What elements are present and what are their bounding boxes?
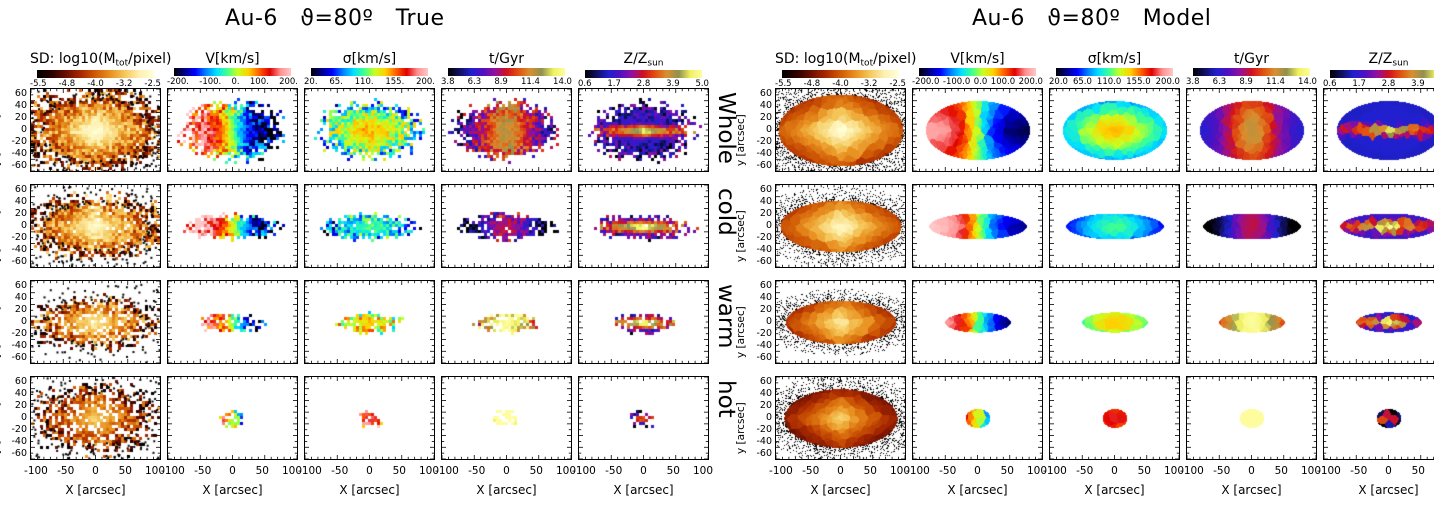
map-panel-true-warm-metal[interactable] <box>578 280 709 364</box>
y-axis-tick-label: -60 <box>749 448 772 459</box>
map-panel-model-cold-v[interactable] <box>912 184 1043 268</box>
y-axis-tick-label: 40 <box>4 100 27 111</box>
y-axis-tick-label: 40 <box>749 388 772 399</box>
y-axis-tick-label: 40 <box>749 100 772 111</box>
colorbar-header-age-model: t/Gyr3.86.38.911.414.0 <box>1186 52 1317 87</box>
colorbar-header-sigma-true: σ[km/s]20.65.110.155.200. <box>304 52 435 87</box>
y-axis-tick-label: -60 <box>749 256 772 267</box>
colorbar-tick: -100. <box>199 77 221 87</box>
colorbar-tick: -100.0 <box>943 77 970 87</box>
y-axis-tick-label: 40 <box>4 196 27 207</box>
panel-tickmarks <box>1324 281 1434 363</box>
panel-tickmarks <box>579 281 708 363</box>
colorbar-tick: 20.0 <box>1049 77 1068 87</box>
panel-tickmarks <box>579 89 708 171</box>
colorbar-tick: 8.9 <box>494 77 508 87</box>
colorbar-header-age-true: t/Gyr3.86.38.911.414.0 <box>441 52 572 87</box>
panel-tickmarks <box>1324 89 1434 171</box>
colorbar-tick: 110. <box>355 77 374 87</box>
y-axis-tick-label: 40 <box>749 196 772 207</box>
panel-tickmarks <box>1050 377 1179 459</box>
map-panel-model-whole-sd[interactable] <box>775 88 906 172</box>
panel-tickmarks <box>776 185 905 267</box>
colorbar-label-sigma-true: σ[km/s] <box>304 52 435 67</box>
panel-tickmarks <box>442 377 571 459</box>
map-panel-model-hot-age[interactable] <box>1186 376 1317 460</box>
colorbar-label-sd-model: SD: log10(Mtot/pixel) <box>775 52 906 69</box>
colorbar-tick: 200. <box>416 77 435 87</box>
y-axis-tick-label: -20 <box>4 424 27 435</box>
panel-tickmarks <box>305 281 434 363</box>
y-axis-title: y [arcsec] <box>735 210 747 262</box>
y-axis-tick-label: -40 <box>4 244 27 255</box>
panel-tickmarks <box>168 89 297 171</box>
colorbar-gradient-metal-model <box>1330 70 1434 78</box>
map-panel-true-whole-sigma[interactable] <box>304 88 435 172</box>
colorbar-gradient-age-model <box>1193 68 1310 76</box>
map-panel-model-whole-sigma[interactable] <box>1049 88 1180 172</box>
y-axis-tick-label: 60 <box>4 88 27 99</box>
map-panel-true-cold-metal[interactable] <box>578 184 709 268</box>
colorbar-label-sigma-model: σ[km/s] <box>1049 52 1180 67</box>
map-panel-model-cold-sigma[interactable] <box>1049 184 1180 268</box>
panel-tickmarks <box>1187 89 1316 171</box>
colorbar-tick: 20. <box>304 77 318 87</box>
map-panel-true-hot-metal[interactable] <box>578 376 709 460</box>
x-axis-title: X [arcsec] <box>912 483 1043 497</box>
y-axis-tick-label: 20 <box>749 400 772 411</box>
colorbar-gradient-sd-model <box>782 70 899 78</box>
colorbar-ticks-age-model: 3.86.38.911.414.0 <box>1186 77 1317 87</box>
colorbar-tick: 200.0 <box>1019 77 1043 87</box>
panel-tickmarks <box>776 89 905 171</box>
y-axis-tick-label: 60 <box>4 280 27 291</box>
colorbar-gradient-age-true <box>448 68 565 76</box>
map-panel-true-warm-age[interactable] <box>441 280 572 364</box>
x-axis-title: X [arcsec] <box>775 483 906 497</box>
map-panel-model-warm-age[interactable] <box>1186 280 1317 364</box>
colorbar-tick: 200.0 <box>1156 77 1180 87</box>
map-panel-true-hot-v[interactable] <box>167 376 298 460</box>
x-axis-title: X [arcsec] <box>1323 483 1434 497</box>
colorbar-tick: 100. <box>250 77 269 87</box>
colorbar-tick: 6.3 <box>1213 77 1227 87</box>
y-axis-tick-label: 20 <box>4 208 27 219</box>
colorbar-label-age-true: t/Gyr <box>441 52 572 67</box>
colorbar-tick: 14.0 <box>1298 77 1317 87</box>
map-panel-model-cold-age[interactable] <box>1186 184 1317 268</box>
map-panel-true-cold-sd[interactable] <box>30 184 161 268</box>
y-axis-tick-label: 60 <box>4 376 27 387</box>
figure-title-true: Au-6 ϑ=80º True <box>225 6 445 31</box>
colorbar-tick: -200. <box>167 77 189 87</box>
map-panel-model-hot-sigma[interactable] <box>1049 376 1180 460</box>
map-panel-true-whole-v[interactable] <box>167 88 298 172</box>
panel-tickmarks <box>305 377 434 459</box>
panel-tickmarks <box>913 377 1042 459</box>
panel-tickmarks <box>913 281 1042 363</box>
map-panel-model-whole-metal[interactable] <box>1323 88 1434 172</box>
map-panel-true-cold-sigma[interactable] <box>304 184 435 268</box>
y-axis-tick-label: 0 <box>749 412 772 423</box>
panel-tickmarks <box>168 185 297 267</box>
figure-title-model: Au-6 ϑ=80º Model <box>972 6 1211 31</box>
colorbar-tick: 110.0 <box>1097 77 1121 87</box>
colorbar-ticks-age-true: 3.86.38.911.414.0 <box>441 77 572 87</box>
colorbar-gradient-sd-true <box>37 70 154 78</box>
colorbar-tick: -200.0 <box>912 77 939 87</box>
y-axis-tick-label: 60 <box>749 376 772 387</box>
x-axis-title: X [arcsec] <box>1186 483 1317 497</box>
y-axis-tick-label: 20 <box>749 304 772 315</box>
map-panel-model-hot-v[interactable] <box>912 376 1043 460</box>
map-panel-true-cold-age[interactable] <box>441 184 572 268</box>
y-axis-tick-label: -20 <box>4 232 27 243</box>
map-panel-model-warm-sigma[interactable] <box>1049 280 1180 364</box>
y-axis-tick-label: 0 <box>4 220 27 231</box>
y-axis-tick-label: -40 <box>749 148 772 159</box>
map-panel-model-warm-sd[interactable] <box>775 280 906 364</box>
map-panel-true-whole-metal[interactable] <box>578 88 709 172</box>
colorbar-gradient-v-model <box>919 68 1036 76</box>
colorbar-tick: 155.0 <box>1126 77 1150 87</box>
colorbar-ticks-sigma-true: 20.65.110.155.200. <box>304 77 435 87</box>
y-axis-tick-label: 20 <box>749 208 772 219</box>
y-axis-tick-label: -20 <box>749 232 772 243</box>
x-axis-title: X [arcsec] <box>167 483 298 497</box>
y-axis-title: y [arcsec] <box>0 402 2 454</box>
y-axis-tick-label: -40 <box>749 436 772 447</box>
panel-tickmarks <box>1324 377 1434 459</box>
y-axis-tick-label: -60 <box>4 256 27 267</box>
panel-tickmarks <box>579 377 708 459</box>
panel-tickmarks <box>31 89 160 171</box>
panel-tickmarks <box>168 281 297 363</box>
panel-tickmarks <box>1187 185 1316 267</box>
panel-tickmarks <box>442 281 571 363</box>
y-axis-tick-label: 0 <box>4 316 27 327</box>
y-axis-tick-label: 0 <box>749 220 772 231</box>
colorbar-gradient-sigma-true <box>311 68 428 76</box>
colorbar-tick: 11.4 <box>521 77 540 87</box>
y-axis-tick-label: 40 <box>4 388 27 399</box>
x-axis-tick-label: 50 <box>1401 465 1434 477</box>
panel-tickmarks <box>1324 185 1434 267</box>
map-panel-true-hot-age[interactable] <box>441 376 572 460</box>
colorbar-tick: 65. <box>329 77 343 87</box>
map-panel-true-whole-sd[interactable] <box>30 88 161 172</box>
panel-tickmarks <box>31 377 160 459</box>
panel-tickmarks <box>31 185 160 267</box>
y-axis-tick-label: 0 <box>749 316 772 327</box>
y-axis-tick-label: 40 <box>749 292 772 303</box>
panel-tickmarks <box>442 185 571 267</box>
panel-tickmarks <box>442 89 571 171</box>
y-axis-tick-label: -40 <box>749 340 772 351</box>
y-axis-tick-label: -40 <box>4 340 27 351</box>
y-axis-tick-label: 0 <box>4 412 27 423</box>
y-axis-tick-label: 20 <box>4 304 27 315</box>
y-axis-tick-label: -40 <box>4 148 27 159</box>
colorbar-tick: 6.3 <box>468 77 482 87</box>
colorbar-label-v-model: V[km/s] <box>912 52 1043 67</box>
colorbar-header-sd-true: SD: log10(Mtot/pixel)-5.5-4.8-4.0-3.2-2.… <box>30 52 161 89</box>
colorbar-label-metal-true: Z/Zsun <box>578 52 709 69</box>
colorbar-header-v-true: V[km/s]-200.-100.0.100.200. <box>167 52 298 87</box>
map-panel-true-hot-sd[interactable] <box>30 376 161 460</box>
y-axis-title: y [arcsec] <box>0 114 2 166</box>
map-panel-model-hot-metal[interactable] <box>1323 376 1434 460</box>
colorbar-tick: 0. <box>232 77 240 87</box>
colorbar-label-age-model: t/Gyr <box>1186 52 1317 67</box>
x-axis-title: X [arcsec] <box>30 483 161 497</box>
y-axis-tick-label: -20 <box>749 424 772 435</box>
y-axis-title: y [arcsec] <box>735 402 747 454</box>
y-axis-title: y [arcsec] <box>0 306 2 358</box>
map-panel-model-warm-metal[interactable] <box>1323 280 1434 364</box>
colorbar-tick: 0.0 <box>974 77 988 87</box>
panel-tickmarks <box>31 281 160 363</box>
y-axis-tick-label: 20 <box>4 112 27 123</box>
panel-tickmarks <box>1050 281 1179 363</box>
map-panel-model-hot-sd[interactable] <box>775 376 906 460</box>
colorbar-tick: 3.8 <box>1186 77 1200 87</box>
x-axis-title: X [arcsec] <box>304 483 435 497</box>
y-axis-tick-label: -40 <box>4 436 27 447</box>
panel-tickmarks <box>305 89 434 171</box>
colorbar-gradient-sigma-model <box>1056 68 1173 76</box>
map-panel-true-hot-sigma[interactable] <box>304 376 435 460</box>
colorbar-gradient-v-true <box>174 68 291 76</box>
colorbar-label-metal-model: Z/Zsun <box>1323 52 1434 69</box>
colorbar-tick: 200. <box>279 77 298 87</box>
panel-tickmarks <box>1187 377 1316 459</box>
y-axis-tick-label: -60 <box>4 160 27 171</box>
colorbar-tick: 8.9 <box>1239 77 1253 87</box>
map-panel-model-cold-metal[interactable] <box>1323 184 1434 268</box>
map-panel-model-whole-v[interactable] <box>912 88 1043 172</box>
colorbar-ticks-v-model: -200.0-100.00.0100.0200.0 <box>912 77 1043 87</box>
y-axis-tick-label: -40 <box>749 244 772 255</box>
panel-tickmarks <box>579 185 708 267</box>
colorbar-tick: 3.8 <box>441 77 455 87</box>
x-axis-title: X [arcsec] <box>441 483 572 497</box>
colorbar-ticks-sigma-model: 20.065.0110.0155.0200.0 <box>1049 77 1180 87</box>
panel-tickmarks <box>305 185 434 267</box>
y-axis-tick-label: 60 <box>749 280 772 291</box>
y-axis-tick-label: -20 <box>749 328 772 339</box>
y-axis-tick-label: -20 <box>4 328 27 339</box>
x-axis-title: X [arcsec] <box>1049 483 1180 497</box>
panel-tickmarks <box>168 377 297 459</box>
x-axis-title: X [arcsec] <box>578 483 709 497</box>
y-axis-tick-label: 20 <box>749 112 772 123</box>
y-axis-tick-label: 60 <box>749 88 772 99</box>
panel-tickmarks <box>913 185 1042 267</box>
colorbar-label-v-true: V[km/s] <box>167 52 298 67</box>
x-axis-tick-label: 100 <box>686 465 720 477</box>
figure-root: Au-6 ϑ=80º True Au-6 ϑ=80º Model SD: log… <box>0 0 1434 511</box>
y-axis-tick-label: -60 <box>4 352 27 363</box>
panel-tickmarks <box>1050 89 1179 171</box>
map-panel-true-warm-v[interactable] <box>167 280 298 364</box>
map-panel-true-warm-sd[interactable] <box>30 280 161 364</box>
colorbar-header-sigma-model: σ[km/s]20.065.0110.0155.0200.0 <box>1049 52 1180 87</box>
map-panel-true-cold-v[interactable] <box>167 184 298 268</box>
y-axis-title: y [arcsec] <box>735 306 747 358</box>
y-axis-tick-label: -20 <box>749 136 772 147</box>
map-panel-model-cold-sd[interactable] <box>775 184 906 268</box>
map-panel-true-warm-sigma[interactable] <box>304 280 435 364</box>
map-panel-model-whole-age[interactable] <box>1186 88 1317 172</box>
panel-tickmarks <box>776 377 905 459</box>
y-axis-tick-label: 0 <box>4 124 27 135</box>
panel-tickmarks <box>913 89 1042 171</box>
y-axis-tick-label: 60 <box>4 184 27 195</box>
y-axis-tick-label: 40 <box>4 292 27 303</box>
colorbar-label-sd-true: SD: log10(Mtot/pixel) <box>30 52 161 69</box>
colorbar-header-sd-model: SD: log10(Mtot/pixel)-5.5-4.8-4.0-3.2-2.… <box>775 52 906 89</box>
y-axis-tick-label: 20 <box>4 400 27 411</box>
y-axis-title: y [arcsec] <box>735 114 747 166</box>
y-axis-tick-label: 60 <box>749 184 772 195</box>
colorbar-tick: 14.0 <box>553 77 572 87</box>
colorbar-gradient-metal-true <box>585 70 702 78</box>
y-axis-tick-label: -20 <box>4 136 27 147</box>
colorbar-tick: 11.4 <box>1266 77 1285 87</box>
map-panel-model-warm-v[interactable] <box>912 280 1043 364</box>
y-axis-tick-label: -60 <box>4 448 27 459</box>
colorbar-header-v-model: V[km/s]-200.0-100.00.0100.0200.0 <box>912 52 1043 87</box>
panel-tickmarks <box>1050 185 1179 267</box>
y-axis-tick-label: -60 <box>749 160 772 171</box>
colorbar-header-metal-model: Z/Zsun0.61.72.83.95.0 <box>1323 52 1434 89</box>
y-axis-tick-label: -60 <box>749 352 772 363</box>
panel-tickmarks <box>1187 281 1316 363</box>
panel-tickmarks <box>776 281 905 363</box>
colorbar-tick: 65.0 <box>1073 77 1092 87</box>
y-axis-tick-label: 0 <box>749 124 772 135</box>
y-axis-title: y [arcsec] <box>0 210 2 262</box>
map-panel-true-whole-age[interactable] <box>441 88 572 172</box>
colorbar-header-metal-true: Z/Zsun0.61.72.83.95.0 <box>578 52 709 89</box>
colorbar-ticks-v-true: -200.-100.0.100.200. <box>167 77 298 87</box>
colorbar-tick: 155. <box>385 77 404 87</box>
colorbar-tick: 100.0 <box>991 77 1015 87</box>
